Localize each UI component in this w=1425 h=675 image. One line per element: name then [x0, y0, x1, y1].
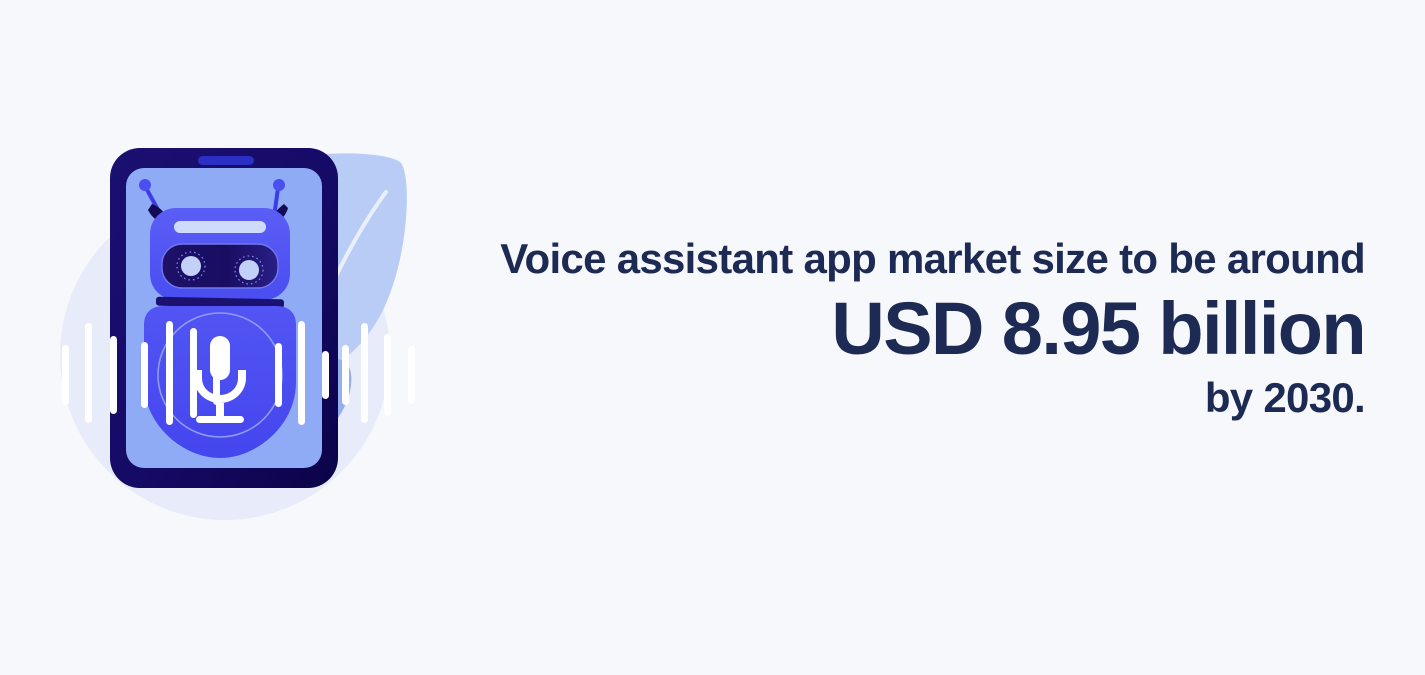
waveform-bar — [141, 342, 148, 408]
infographic-banner: Voice assistant app market size to be ar… — [0, 0, 1425, 675]
voice-assistant-illustration — [40, 120, 450, 540]
waveform-bar — [342, 345, 349, 405]
illustration-svg — [40, 120, 450, 540]
waveform-bar — [361, 323, 368, 423]
robot-visor — [162, 244, 278, 288]
waveform-bar — [85, 323, 92, 423]
robot-group — [139, 179, 296, 458]
waveform-bar — [384, 334, 391, 416]
waveform-bar — [298, 321, 305, 425]
waveform-bar — [275, 343, 282, 407]
headline-line-1: Voice assistant app market size to be ar… — [440, 232, 1365, 286]
waveform-bar — [213, 345, 220, 405]
robot-head-highlight — [174, 221, 266, 233]
waveform-bar — [166, 321, 173, 425]
waveform-bar — [110, 336, 117, 414]
waveform-bar — [62, 345, 69, 405]
headline-statistic: USD 8.95 billion — [440, 286, 1365, 372]
headline-block: Voice assistant app market size to be ar… — [440, 232, 1365, 424]
headline-year: by 2030. — [440, 372, 1365, 424]
phone-speaker-icon — [198, 156, 254, 165]
waveform-bar — [190, 328, 197, 418]
waveform-bar — [408, 346, 415, 404]
waveform-bar — [322, 351, 329, 399]
